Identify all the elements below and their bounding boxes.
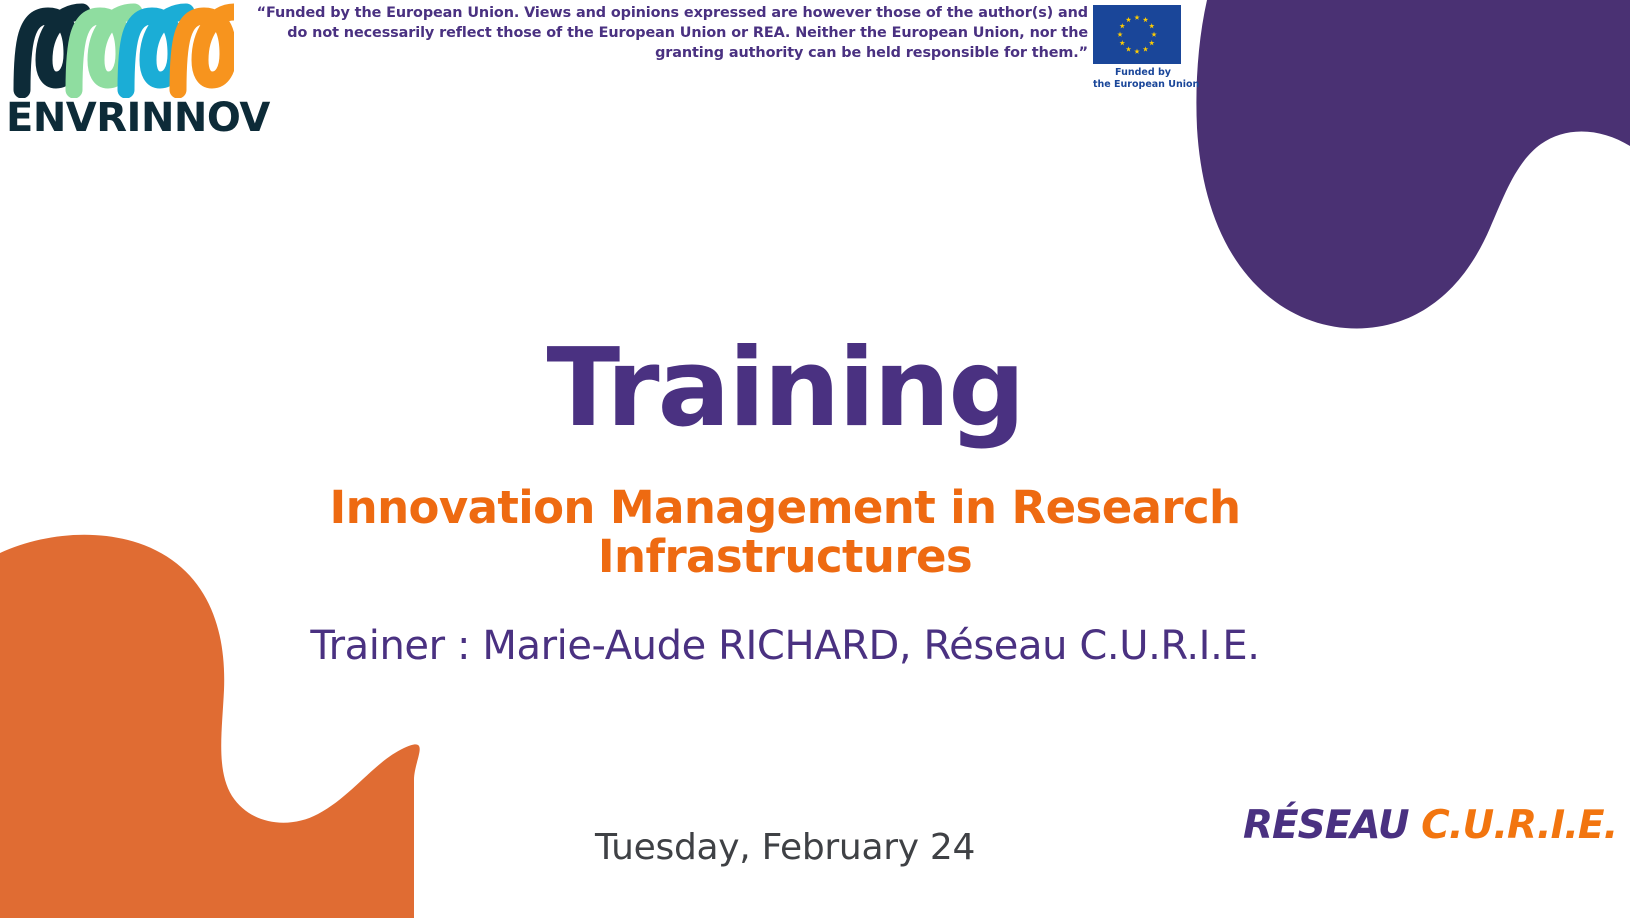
page-subtitle: Innovation Management in Research Infras…: [180, 484, 1390, 581]
slide-root: ENVRINNOV “Funded by the European Union.…: [0, 0, 1630, 918]
page-title: Training: [0, 334, 1570, 444]
trainer-line: Trainer : Marie-Aude RICHARD, Réseau C.U…: [180, 624, 1390, 668]
curie-logo-reseau: RÉSEAU: [1243, 803, 1409, 848]
envrinnov-wave-logo-icon: [6, 2, 234, 98]
eu-caption-line-2: the European Union: [1093, 79, 1193, 91]
eu-caption-line-1: Funded by: [1093, 67, 1193, 79]
envrinnov-logo: ENVRINNOV: [6, 2, 234, 144]
eu-funding-disclaimer: “Funded by the European Union. Views and…: [252, 4, 1088, 64]
european-union-flag-icon: [1093, 5, 1181, 64]
eu-funding-badge: Funded by the European Union: [1093, 5, 1193, 92]
reseau-curie-logo: RÉSEAU C.U.R.I.E.: [1243, 806, 1617, 845]
date-line: Tuesday, February 24: [180, 828, 1390, 868]
purple-organic-blob-top-right: [1196, 0, 1630, 329]
envrinnov-wordmark: ENVRINNOV: [6, 98, 234, 138]
eu-badge-caption: Funded by the European Union: [1093, 67, 1193, 92]
curie-logo-curie: C.U.R.I.E.: [1421, 803, 1617, 848]
